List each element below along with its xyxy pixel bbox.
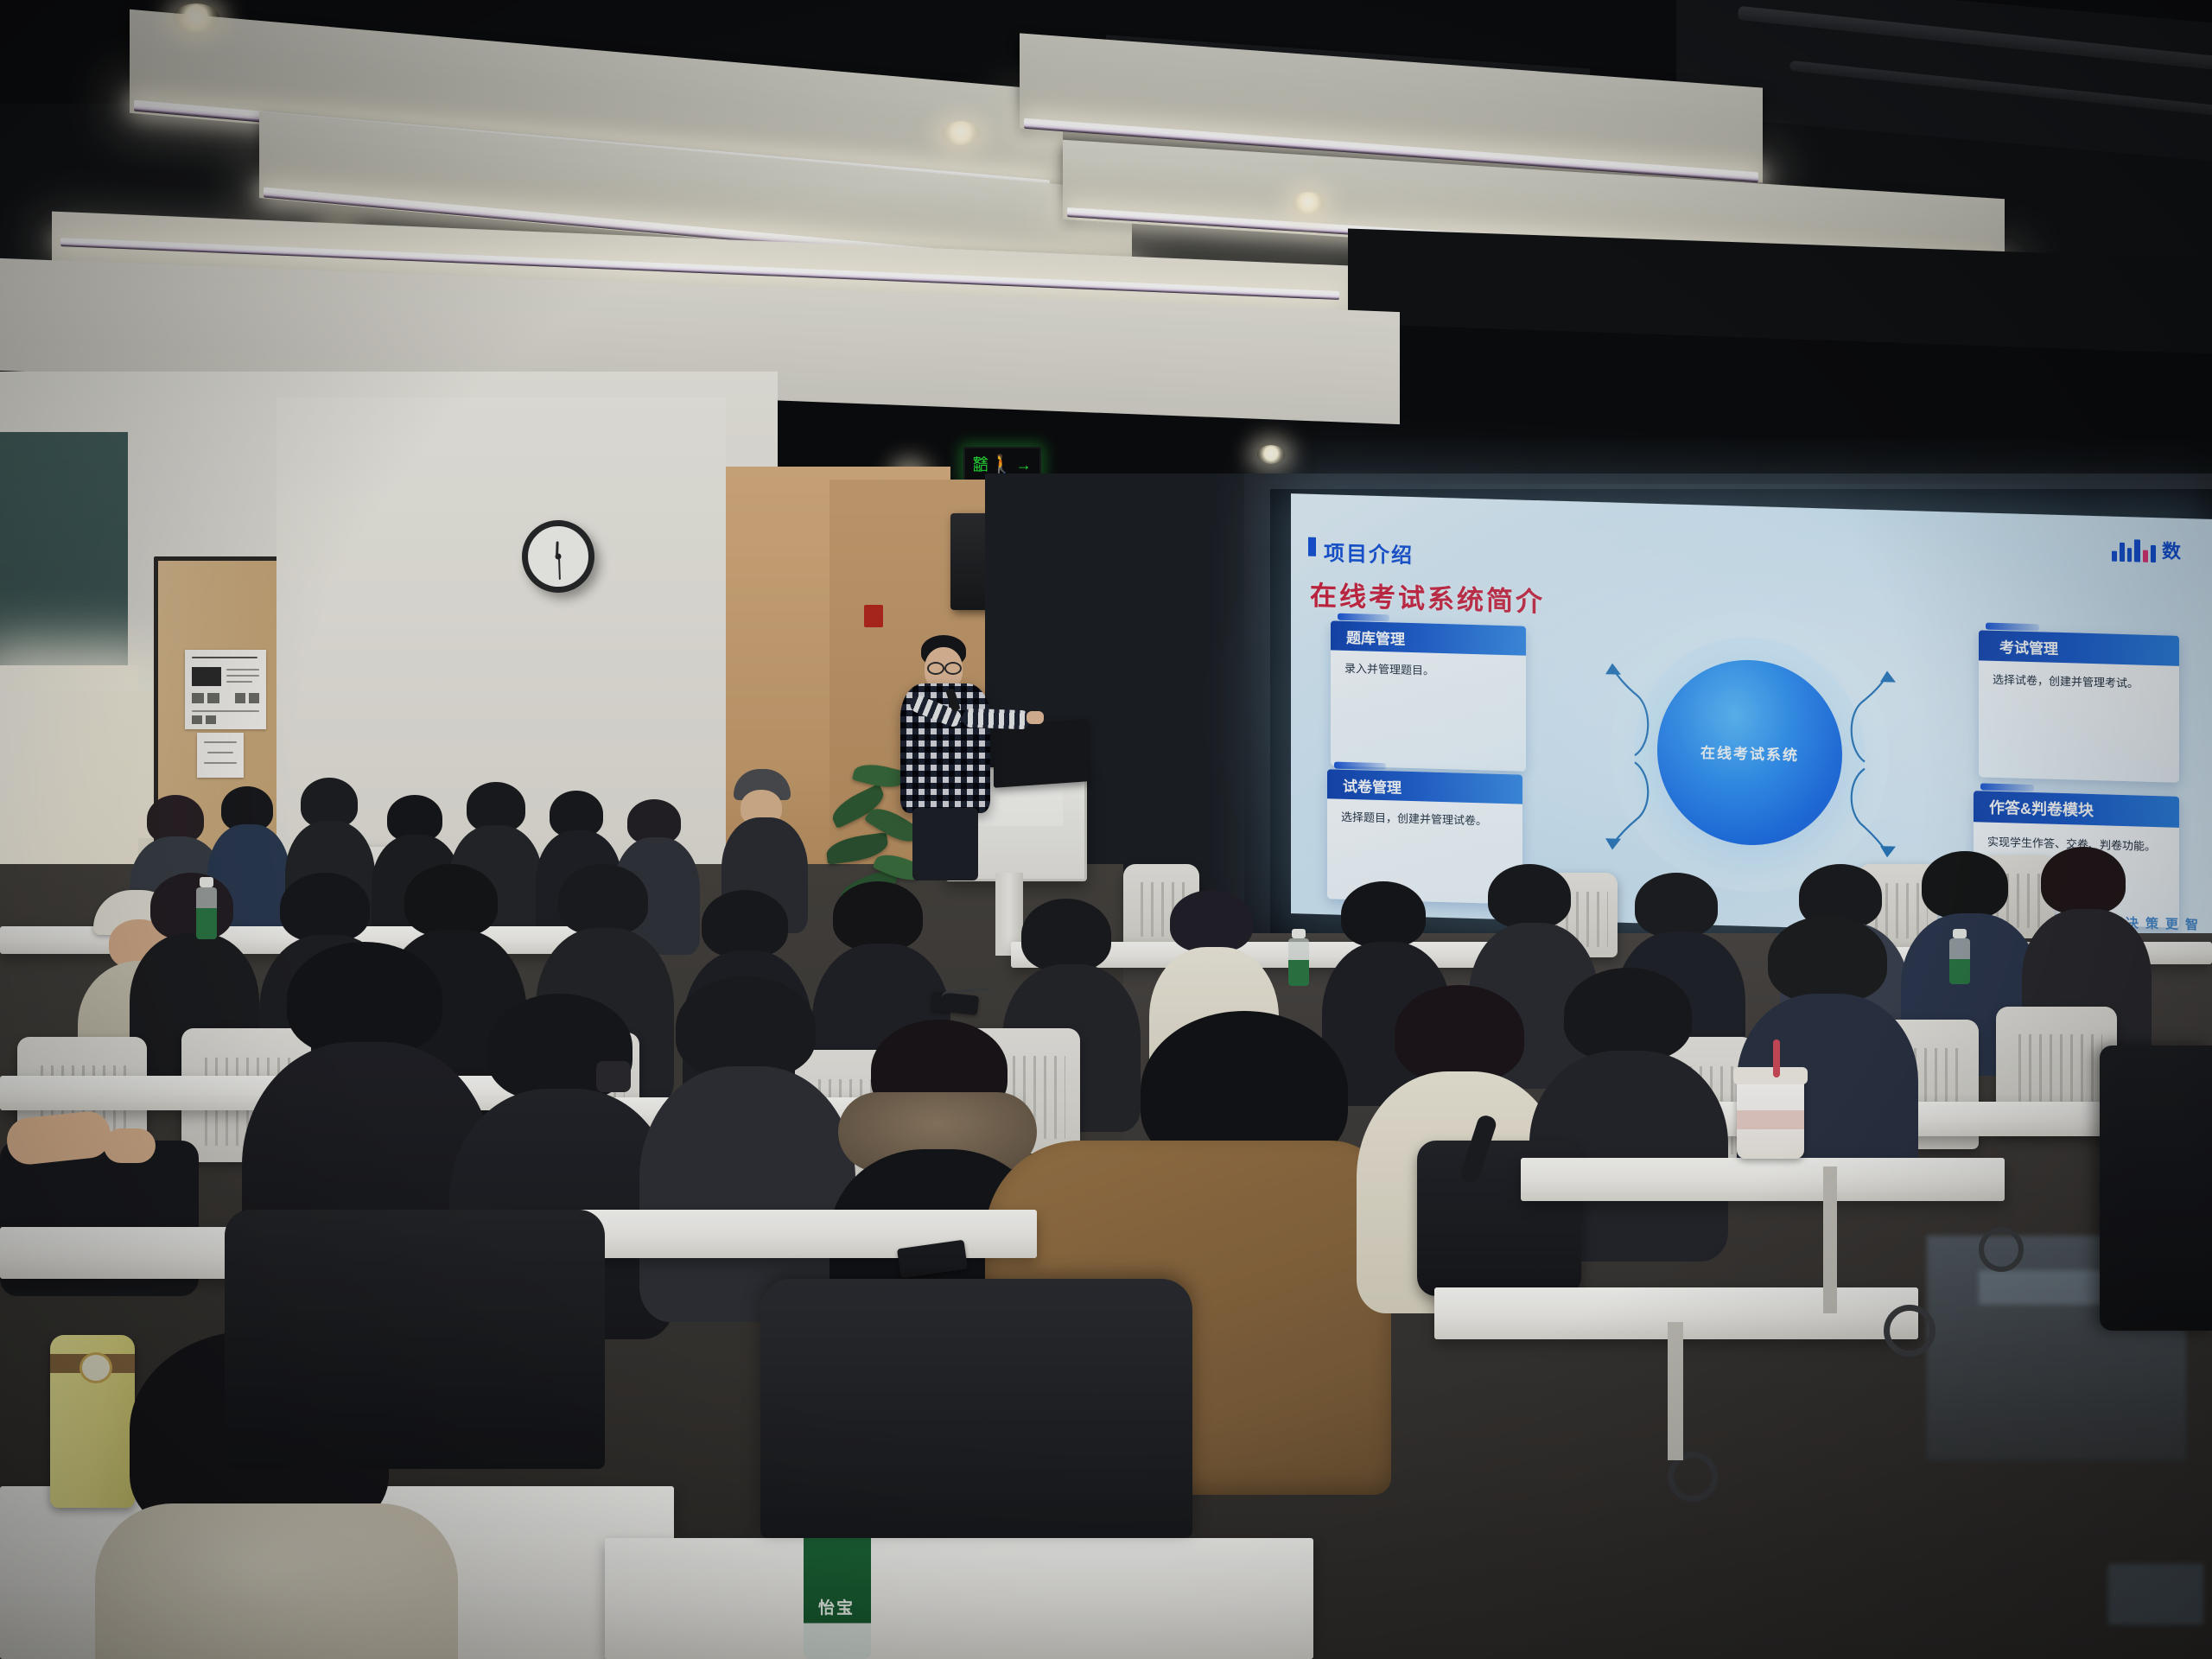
cup-straw <box>1773 1039 1780 1077</box>
section-marker <box>1308 537 1316 556</box>
slide-center-node: 在线考试系统 <box>1657 658 1842 848</box>
wall-clock <box>522 520 594 593</box>
chair-foreground-left <box>225 1210 605 1469</box>
card-tab-paper <box>1334 762 1386 771</box>
water-bottle-far-2[interactable] <box>1287 929 1310 986</box>
fire-alarm-box <box>864 605 883 627</box>
card-header-exam: 考试管理 <box>1979 630 2179 665</box>
brand-logo: 数 <box>2112 536 2181 563</box>
card-header-paper: 试卷管理 <box>1327 769 1522 804</box>
slide-card-exam: 考试管理 选择试卷，创建并管理考试。 <box>1979 630 2179 782</box>
cup-lid <box>1733 1067 1808 1084</box>
bottle-brand-label: 怡宝 <box>795 1595 878 1618</box>
attendee-near-3 <box>639 976 855 1322</box>
chair-foreground-center <box>760 1279 1192 1538</box>
clock-minute-hand <box>558 557 561 580</box>
card-tab-exam <box>1986 623 2039 632</box>
slide-title: 在线考试系统简介 <box>1310 574 1545 620</box>
card-header-answer: 作答&判卷模块 <box>1974 791 2179 828</box>
downlight-3 <box>942 121 980 145</box>
downlight-5 <box>1292 192 1325 214</box>
presenter-right-arm <box>963 709 1031 730</box>
desk-leg-right-2 <box>1668 1322 1683 1460</box>
desk-caster-1 <box>1884 1305 1935 1357</box>
desk-front-center <box>605 1538 1313 1659</box>
face-mask <box>596 1061 631 1092</box>
desk-leg-right-1 <box>1823 1166 1837 1313</box>
presenter-hand <box>1027 711 1044 724</box>
presenter-glasses <box>927 662 944 675</box>
water-bottle-far-3[interactable] <box>1948 929 1971 984</box>
chair-foreground-right <box>2100 1046 2212 1331</box>
door-notice-secondary <box>197 733 244 778</box>
slide-card-qbank: 题库管理 录入并管理题目。 <box>1331 620 1526 771</box>
brand-logo-text: 数 <box>2162 540 2181 563</box>
card-header-qbank: 题库管理 <box>1331 620 1526 655</box>
presenter-legs <box>912 808 978 880</box>
presenter <box>890 635 1011 886</box>
card-tab-qbank <box>1338 613 1389 622</box>
desk-near-right <box>1521 1158 2005 1201</box>
desk-caster-2 <box>1979 1227 2024 1272</box>
downlight-7 <box>1257 445 1285 464</box>
classroom-scene: 安全出口 🚶 → <box>0 0 2212 1659</box>
presenter-glasses-right <box>944 662 962 675</box>
slide-section-label: 项目介绍 <box>1324 536 1414 569</box>
floor-reflection-logo <box>2108 1564 2203 1624</box>
exit-sign-text: 安全出口 <box>973 457 987 473</box>
arrow-right-icon: → <box>1016 457 1032 473</box>
door-notice-main <box>185 650 266 729</box>
cup-band <box>1737 1110 1804 1129</box>
drink-cup[interactable] <box>1737 1076 1804 1159</box>
exit-running-person-icon: 🚶 <box>989 455 1013 474</box>
attendee-hand-left-2 <box>104 1128 156 1163</box>
wall-accent-teal <box>0 432 128 691</box>
slide-center-node-label: 在线考试系统 <box>1657 739 1842 766</box>
water-bottle-far[interactable] <box>194 877 219 939</box>
downlight-1 <box>173 3 219 33</box>
fur-hood-left <box>95 1503 458 1659</box>
